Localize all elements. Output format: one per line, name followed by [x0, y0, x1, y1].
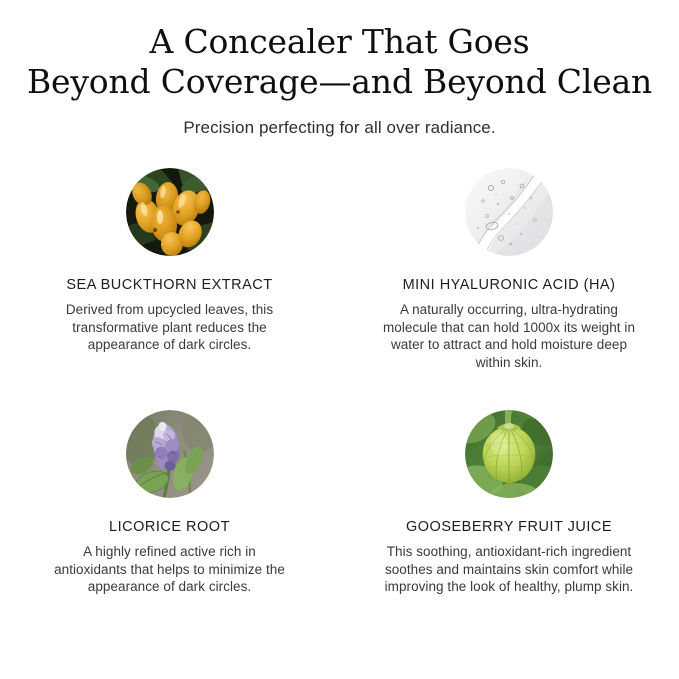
headline-line-2: Beyond Coverage—and Beyond Clean [0, 62, 679, 102]
ingredient-description: A highly refined active rich in antioxid… [47, 543, 293, 596]
ingredient-name: MINI HYALURONIC ACID (HA) [403, 276, 616, 294]
ingredient-name: LICORICE ROOT [109, 518, 230, 536]
ingredient-grid: SEA BUCKTHORN EXTRACT Derived from upcyc… [0, 168, 679, 596]
ingredient-description: This soothing, antioxidant-rich ingredie… [383, 543, 635, 596]
header: A Concealer That Goes Beyond Coverage—an… [0, 0, 679, 139]
gooseberry-fruit-icon [465, 410, 553, 498]
page-subtitle: Precision perfecting for all over radian… [0, 102, 679, 139]
ingredient-name: SEA BUCKTHORN EXTRACT [66, 276, 272, 294]
licorice-root-flower-icon [126, 410, 214, 498]
ingredient-card-gooseberry: GOOSEBERRY FRUIT JUICE This soothing, an… [339, 410, 679, 596]
hyaluronic-acid-gel-icon [465, 168, 553, 256]
page-title: A Concealer That Goes Beyond Coverage—an… [0, 0, 679, 102]
sea-buckthorn-berries-icon [126, 168, 214, 256]
ingredient-description: A naturally occurring, ultra-hydrating m… [383, 301, 635, 371]
ingredient-description: Derived from upcycled leaves, this trans… [47, 301, 293, 354]
headline-line-1: A Concealer That Goes [0, 22, 679, 62]
ingredient-infographic: A Concealer That Goes Beyond Coverage—an… [0, 0, 679, 679]
ingredient-card-licorice-root: LICORICE ROOT A highly refined active ri… [0, 410, 339, 596]
ingredient-name: GOOSEBERRY FRUIT JUICE [406, 518, 612, 536]
ingredient-card-sea-buckthorn: SEA BUCKTHORN EXTRACT Derived from upcyc… [0, 168, 339, 410]
ingredient-card-hyaluronic-acid: MINI HYALURONIC ACID (HA) A naturally oc… [339, 168, 679, 410]
